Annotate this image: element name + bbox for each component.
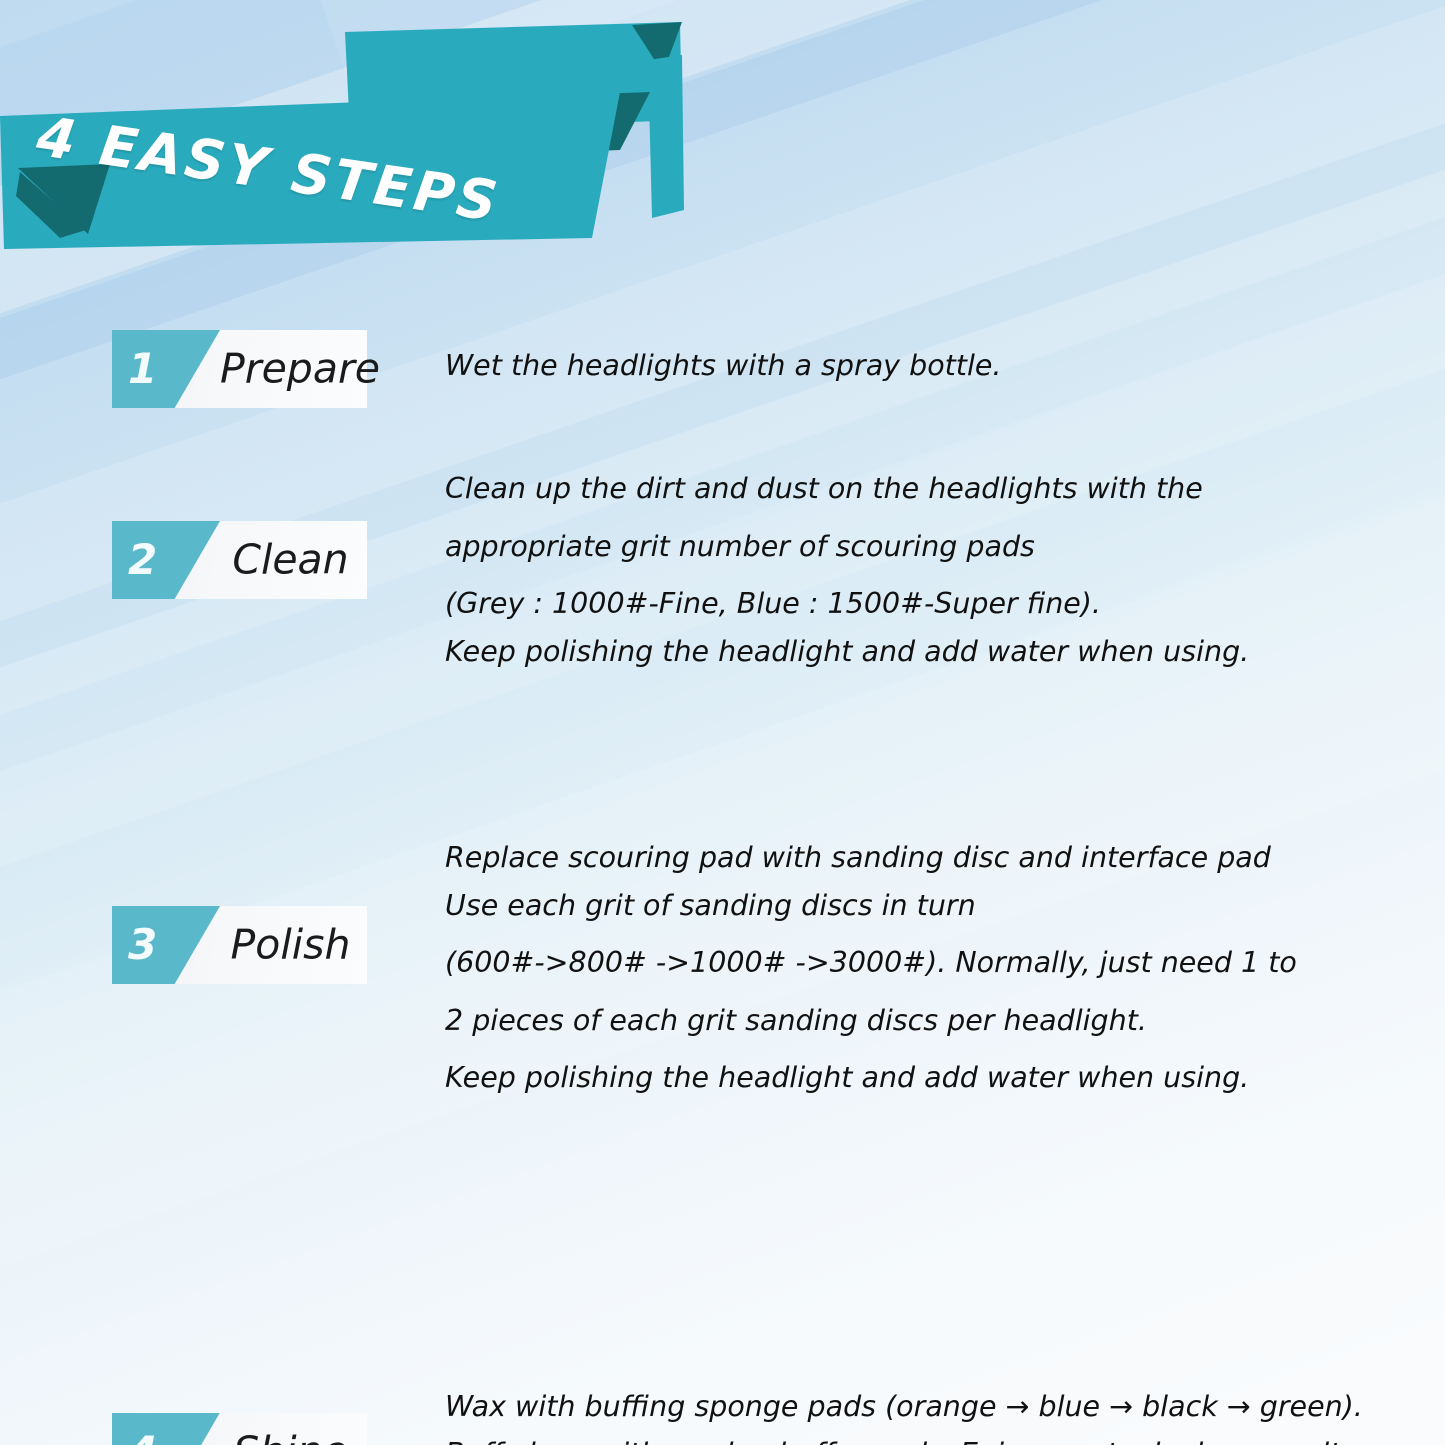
- step-item-3: 3 Polish Replace scouring pad with sandi…: [0, 844, 1445, 1093]
- step-body-4: Wax with buffing sponge pads (orange → b…: [445, 1393, 1445, 1445]
- step-body-line: 2 pieces of each grit sanding discs per …: [445, 1007, 1445, 1036]
- header-ribbon-banner: 4 EASY STEPS: [0, 0, 720, 260]
- step-body-line: (Grey : 1000#-Fine, Blue : 1500#-Super f…: [445, 590, 1445, 619]
- step-badge-3: 3 Polish: [112, 906, 367, 984]
- step-body-line: Keep polishing the headlight and add wat…: [445, 1064, 1445, 1093]
- step-item-1: 1 Prepare Wet the headlights with a spra…: [0, 330, 1445, 408]
- step-body-line: Use each grit of sanding discs in turn: [445, 892, 1445, 921]
- step-body-line: Wax with buffing sponge pads (orange → b…: [445, 1393, 1445, 1422]
- step-item-2: 2 Clean Clean up the dirt and dust on th…: [0, 473, 1445, 666]
- ribbon-right-drop: [648, 55, 684, 218]
- step-label-3: Polish: [220, 925, 367, 966]
- step-label-4: Shine: [220, 1431, 367, 1445]
- step-body-line: Clean up the dirt and dust on the headli…: [445, 475, 1445, 504]
- step-number-3: 3: [128, 924, 157, 966]
- step-body-line: appropriate grit number of scouring pads: [445, 533, 1445, 562]
- step-number-2: 2: [128, 539, 157, 581]
- step-body-3: Replace scouring pad with sanding disc a…: [445, 844, 1445, 1093]
- step-body-2: Clean up the dirt and dust on the headli…: [445, 473, 1445, 666]
- steps-list: 1 Prepare Wet the headlights with a spra…: [0, 330, 1445, 1445]
- step-item-4: 4 Shine Wax with buffing sponge pads (or…: [0, 1393, 1445, 1445]
- step-badge-4: 4 Shine: [112, 1413, 367, 1445]
- step-label-2: Clean: [220, 540, 367, 581]
- step-badge-2: 2 Clean: [112, 521, 367, 599]
- step-number-4: 4: [128, 1431, 157, 1445]
- step-body-1: Wet the headlights with a spray bottle.: [445, 330, 1445, 381]
- step-body-line: Replace scouring pad with sanding disc a…: [445, 844, 1445, 873]
- step-number-1: 1: [128, 348, 157, 390]
- step-body-line: Wet the headlights with a spray bottle.: [445, 352, 1445, 381]
- infographic-page: 4 EASY STEPS 1 Prepare Wet the headlight…: [0, 0, 1445, 1445]
- step-body-line: Keep polishing the headlight and add wat…: [445, 638, 1445, 667]
- step-body-line: (600#->800# ->1000# ->3000#). Normally, …: [445, 949, 1445, 978]
- step-body-line: Buff clean with woolen buffer pads. Enjo…: [445, 1440, 1445, 1445]
- step-label-1: Prepare: [220, 349, 367, 390]
- step-badge-1: 1 Prepare: [112, 330, 367, 408]
